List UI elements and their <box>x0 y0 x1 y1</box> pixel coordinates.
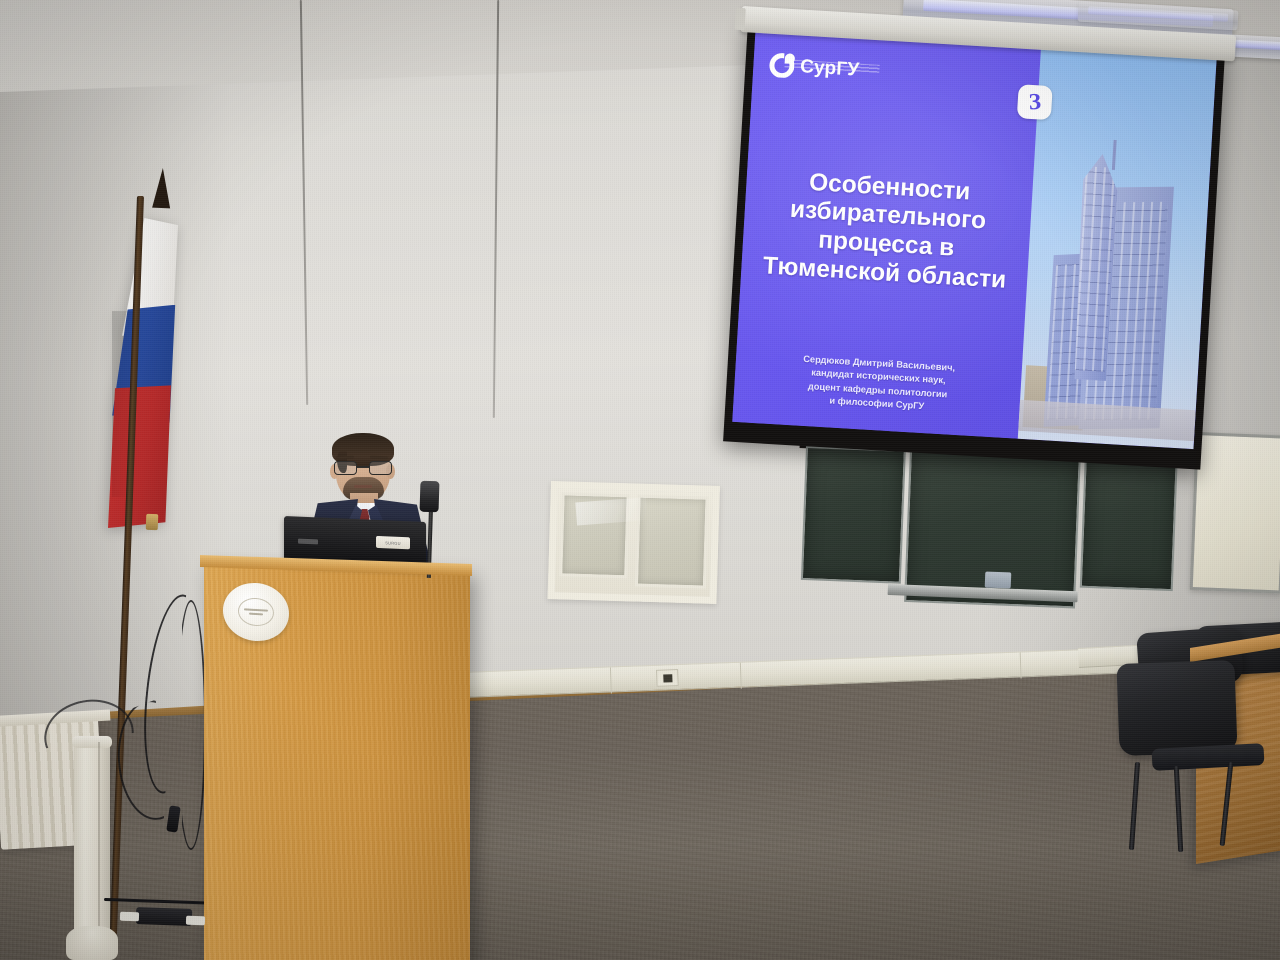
flag-finial-icon <box>152 168 172 209</box>
building-spire <box>1112 140 1117 170</box>
light-tube <box>1088 6 1229 21</box>
z-badge-icon: З <box>1017 84 1053 120</box>
gooseneck-microphone[interactable] <box>420 481 440 513</box>
chair-leg <box>1174 766 1183 852</box>
window-pane-right <box>635 495 709 589</box>
pipe-column-cap <box>72 736 112 748</box>
slide-left-panel: СурГУ Особенности избирательного процесс… <box>732 31 1041 438</box>
power-plug <box>120 912 139 922</box>
board-eraser[interactable] <box>985 572 1012 589</box>
lecture-hall-scene: СурГУ Особенности избирательного процесс… <box>0 0 1280 960</box>
chalkboard-panel-left <box>801 446 906 584</box>
presenter-mouth <box>354 485 372 488</box>
whiteboard <box>1190 432 1280 594</box>
projector-screen[interactable]: СурГУ Особенности избирательного процесс… <box>723 22 1225 470</box>
chalkboard-panel-right <box>1080 457 1178 591</box>
flag-pole-collar <box>146 514 159 530</box>
slide-subtitle: Сердюков Дмитрий Васильевич, кандидат ис… <box>747 350 1008 418</box>
building-ground <box>1019 400 1196 442</box>
interior-service-window <box>547 481 719 604</box>
russian-flag <box>108 218 178 528</box>
chair-leg <box>1129 762 1140 850</box>
chair-seat <box>1152 743 1265 771</box>
chair-leg <box>1220 762 1234 846</box>
eyeglasses-icon <box>334 461 392 476</box>
power-adapter-brick <box>136 907 193 926</box>
presentation-slide: СурГУ Особенности избирательного процесс… <box>732 31 1216 449</box>
pipe-column-base <box>66 926 118 960</box>
laptop-asset-label: SURGU <box>376 536 410 549</box>
laptop-brand-logo <box>298 539 318 545</box>
chair-front[interactable] <box>1118 662 1268 862</box>
slide-title: Особенности избирательного процесса в Тю… <box>751 102 1028 296</box>
z-badge-glyph: З <box>1029 90 1042 114</box>
chair-backrest <box>1116 660 1237 756</box>
wall-power-outlet[interactable] <box>656 669 679 687</box>
power-plug <box>186 916 205 926</box>
